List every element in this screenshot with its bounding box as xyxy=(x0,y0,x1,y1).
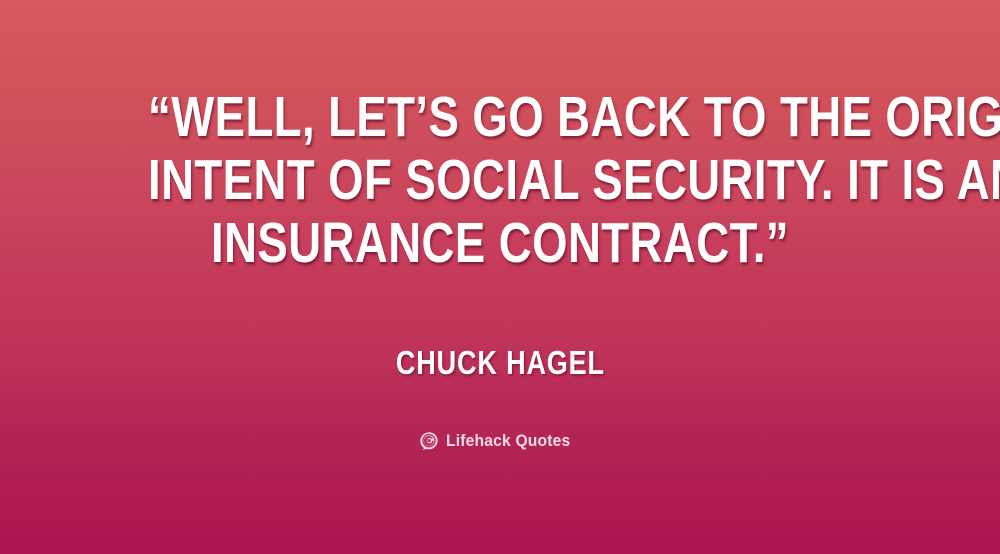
quote-line-2: INTENT OF SOCIAL SECURITY. IT IS AN xyxy=(148,149,852,212)
quote-text-block: “WELL, LET’S GO BACK TO THE ORIGINAL INT… xyxy=(0,86,1000,275)
brand-name: Lifehack Quotes xyxy=(446,431,570,451)
quote-card: “WELL, LET’S GO BACK TO THE ORIGINAL INT… xyxy=(0,0,1000,554)
brand-footer: Lifehack Quotes xyxy=(0,431,1000,451)
quote-author: CHUCK HAGEL xyxy=(396,344,605,382)
quote-line-3: INSURANCE CONTRACT.” xyxy=(148,212,852,275)
lifehack-swirl-circle-icon xyxy=(419,431,439,451)
quote-author-block: CHUCK HAGEL xyxy=(0,344,1000,382)
quote-line-1: “WELL, LET’S GO BACK TO THE ORIGINAL xyxy=(148,86,852,149)
